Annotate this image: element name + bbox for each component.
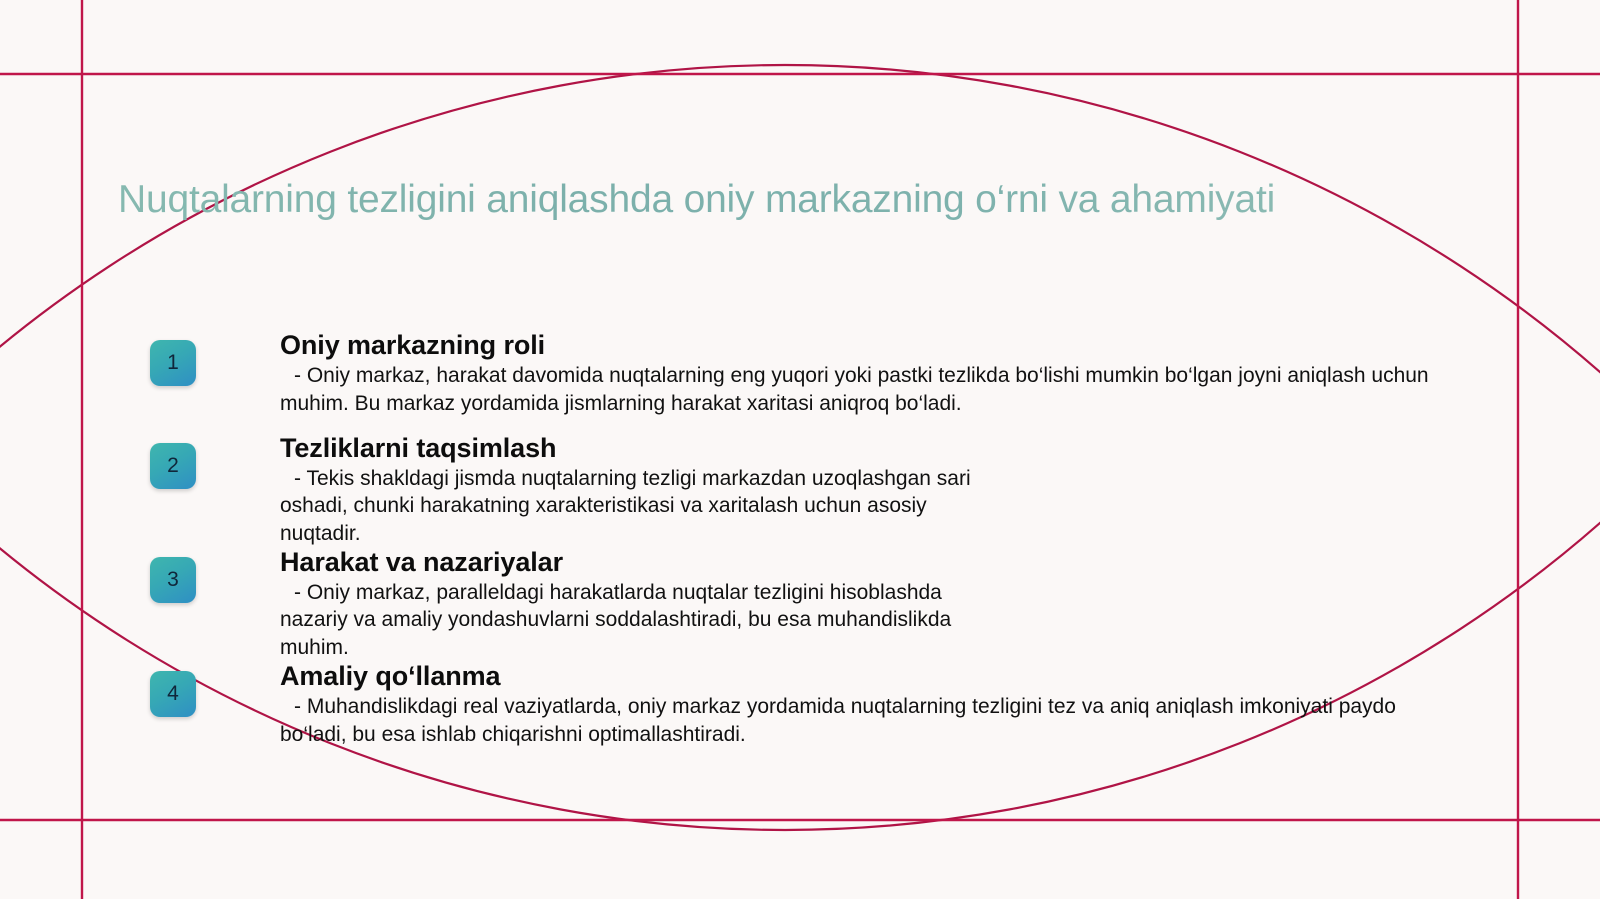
list-item-body: Tezliklarni taqsimlash - Tekis shakldagi… xyxy=(280,433,1450,547)
list-item-text: - Oniy markaz, paralleldagi harakatlarda… xyxy=(280,579,1450,661)
list-item-text: - Tekis shakldagi jismda nuqtalarning te… xyxy=(280,465,1450,547)
slide-canvas: Nuqtalarning tezligini aniqlashda oniy m… xyxy=(0,0,1600,899)
list-item-title: Amaliy qo‘llanma xyxy=(280,661,1450,691)
item-number-badge: 1 xyxy=(150,340,196,386)
list-item-title: Harakat va nazariyalar xyxy=(280,547,1450,577)
slide-title: Nuqtalarning tezligini aniqlashda oniy m… xyxy=(118,178,1418,222)
list-item-body: Harakat va nazariyalar - Oniy markaz, pa… xyxy=(280,547,1450,661)
list-item: 1 Oniy markazning roli - Oniy markaz, ha… xyxy=(150,330,1450,417)
item-number-badge: 2 xyxy=(150,443,196,489)
list-item-body: Amaliy qo‘llanma - Muhandislikdagi real … xyxy=(280,661,1450,748)
list-item-text: - Muhandislikdagi real vaziyatlarda, oni… xyxy=(280,693,1450,748)
list-item-text: - Oniy markaz, harakat davomida nuqtalar… xyxy=(280,362,1450,417)
list-item: 4 Amaliy qo‘llanma - Muhandislikdagi rea… xyxy=(150,661,1450,748)
list-item: 2 Tezliklarni taqsimlash - Tekis shaklda… xyxy=(150,433,1450,547)
list-item-title: Oniy markazning roli xyxy=(280,330,1450,360)
numbered-list: 1 Oniy markazning roli - Oniy markaz, ha… xyxy=(150,330,1450,748)
list-item-body: Oniy markazning roli - Oniy markaz, hara… xyxy=(280,330,1450,417)
item-number-badge: 4 xyxy=(150,671,196,717)
list-item-title: Tezliklarni taqsimlash xyxy=(280,433,1450,463)
item-number-badge: 3 xyxy=(150,557,196,603)
list-item: 3 Harakat va nazariyalar - Oniy markaz, … xyxy=(150,547,1450,661)
